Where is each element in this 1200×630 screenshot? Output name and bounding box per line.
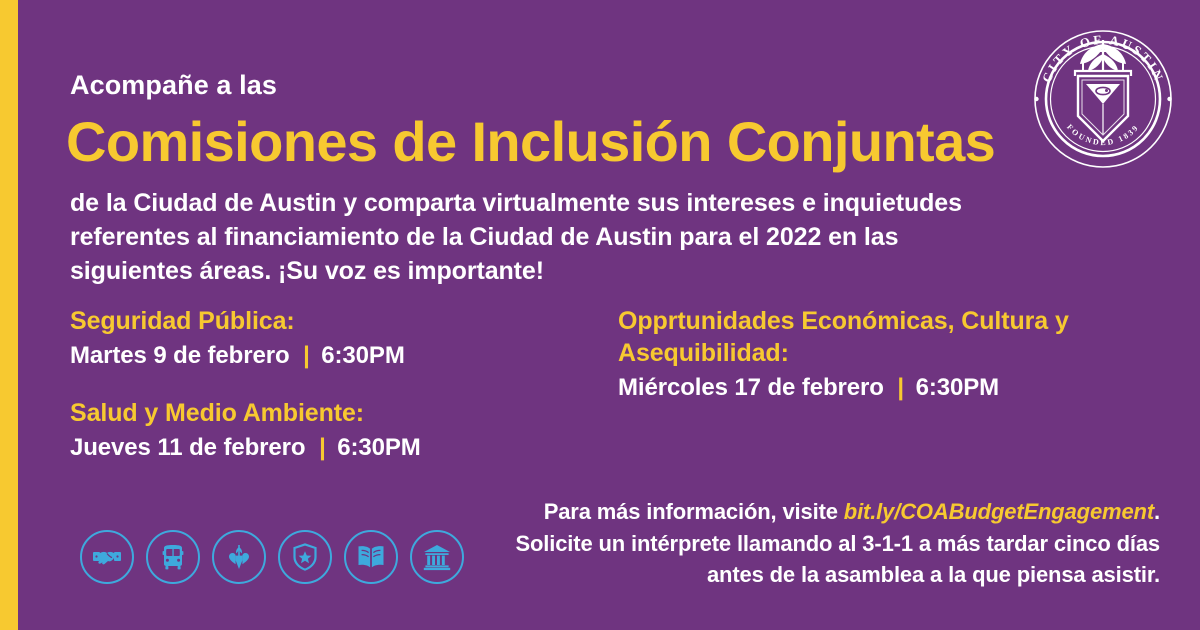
open-book-icon — [344, 530, 398, 584]
footer-line2: Solicite un intérprete llamando al 3-1-1… — [515, 531, 1110, 556]
event-date: Jueves 11 de febrero — [70, 434, 305, 461]
event-title: Seguridad Pública: — [70, 305, 570, 337]
event-date: Miércoles 17 de febrero — [618, 374, 884, 401]
event-time: 6:30PM — [337, 434, 420, 461]
health-plant-icon — [212, 530, 266, 584]
government-building-icon — [410, 530, 464, 584]
event-time: 6:30PM — [321, 342, 404, 369]
service-icon-strip — [80, 530, 464, 584]
event-datetime: Martes 9 de febrero | 6:30PM — [70, 340, 570, 371]
footer-note: Para más información, visite bit.ly/COAB… — [500, 496, 1160, 590]
event-time: 6:30PM — [916, 374, 999, 401]
event-item: Salud y Medio Ambiente: Jueves 11 de feb… — [70, 397, 570, 463]
bus-icon — [146, 530, 200, 584]
event-separator: | — [890, 374, 909, 401]
page-title: Comisiones de Inclusión Conjuntas — [66, 112, 995, 172]
handshake-icon — [80, 530, 134, 584]
event-separator: | — [312, 434, 331, 461]
events-column-left: Seguridad Pública: Martes 9 de febrero |… — [70, 305, 570, 463]
budget-engagement-link[interactable]: bit.ly/COABudgetEngagement — [844, 499, 1154, 524]
shield-star-icon — [278, 530, 332, 584]
eyebrow-text: Acompañe a las — [70, 72, 277, 99]
footer-line1-suffix: . — [1154, 499, 1160, 524]
event-item: Seguridad Pública: Martes 9 de febrero |… — [70, 305, 570, 371]
intro-paragraph: de la Ciudad de Austin y comparta virtua… — [70, 186, 1020, 288]
event-date: Martes 9 de febrero — [70, 342, 290, 369]
event-title: Opprtunidades Económicas, Cultura y Aseq… — [618, 305, 1138, 369]
events-column-right: Opprtunidades Económicas, Cultura y Aseq… — [618, 305, 1138, 403]
city-of-austin-seal: CITY OF AUSTIN FOUNDED 1839 — [1028, 24, 1178, 174]
event-datetime: Miércoles 17 de febrero | 6:30PM — [618, 372, 1138, 403]
event-datetime: Jueves 11 de febrero | 6:30PM — [70, 432, 570, 463]
event-title: Salud y Medio Ambiente: — [70, 397, 570, 429]
poster-canvas: CITY OF AUSTIN FOUNDED 1839 — [0, 0, 1200, 630]
event-item: Opprtunidades Económicas, Cultura y Aseq… — [618, 305, 1138, 403]
event-separator: | — [296, 342, 315, 369]
footer-line1-prefix: Para más información, visite — [544, 499, 844, 524]
left-accent-stripe — [0, 0, 18, 630]
